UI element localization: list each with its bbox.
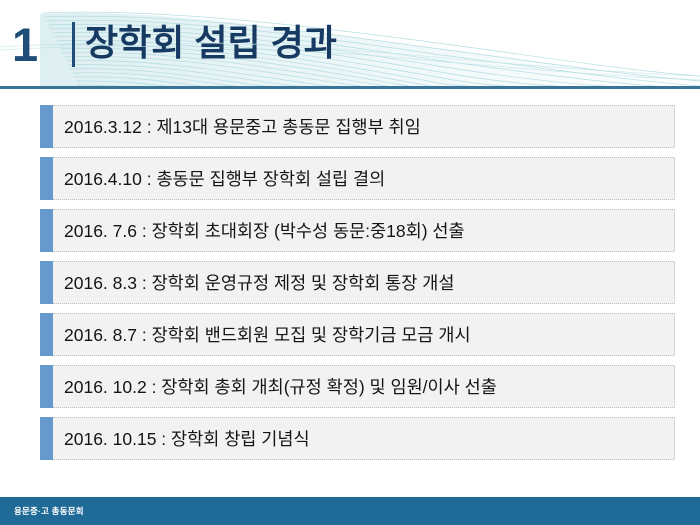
row-text: 2016. 10.2 : 장학회 총회 개최(규정 확정) 및 임원/이사 선출: [53, 377, 497, 397]
row-body: 2016. 7.6 : 장학회 초대회장 (박수성 동문:중18회) 선출: [53, 209, 675, 252]
row-body: 2016. 10.2 : 장학회 총회 개최(규정 확정) 및 임원/이사 선출: [53, 365, 675, 408]
footer-organization-name: 용문중·고 총동문회: [14, 505, 84, 517]
row-accent-bar: [40, 105, 53, 148]
slide-canvas: 1 장학회 설립 경과 2016.3.12 : 제13대 용문중고 총동문 집행…: [0, 0, 700, 525]
list-item: 2016. 8.3 : 장학회 운영규정 제정 및 장학회 통장 개설: [0, 261, 700, 304]
page-title: 장학회 설립 경과: [85, 19, 337, 67]
timeline-list: 2016.3.12 : 제13대 용문중고 총동문 집행부 취임 2016.4.…: [0, 105, 700, 469]
row-body: 2016. 8.3 : 장학회 운영규정 제정 및 장학회 통장 개설: [53, 261, 675, 304]
slide-number: 1: [12, 21, 37, 68]
row-text: 2016. 10.15 : 장학회 창립 기념식: [53, 429, 310, 449]
row-accent-bar: [40, 209, 53, 252]
list-item: 2016. 10.15 : 장학회 창립 기념식: [0, 417, 700, 460]
row-body: 2016. 8.7 : 장학회 밴드회원 모집 및 장학기금 모금 개시: [53, 313, 675, 356]
header-rule: [0, 86, 700, 89]
row-text: 2016.4.10 : 총동문 집행부 장학회 설립 결의: [53, 169, 385, 189]
row-accent-bar: [40, 313, 53, 356]
row-accent-bar: [40, 417, 53, 460]
list-item: 2016. 10.2 : 장학회 총회 개최(규정 확정) 및 임원/이사 선출: [0, 365, 700, 408]
row-text: 2016.3.12 : 제13대 용문중고 총동문 집행부 취임: [53, 117, 421, 137]
list-item: 2016. 8.7 : 장학회 밴드회원 모집 및 장학기금 모금 개시: [0, 313, 700, 356]
slide-footer: 용문중·고 총동문회: [0, 497, 700, 525]
header-divider: [72, 22, 75, 67]
list-item: 2016.3.12 : 제13대 용문중고 총동문 집행부 취임: [0, 105, 700, 148]
row-accent-bar: [40, 261, 53, 304]
slide-header: 1 장학회 설립 경과: [0, 0, 700, 88]
row-text: 2016. 8.3 : 장학회 운영규정 제정 및 장학회 통장 개설: [53, 273, 454, 293]
row-text: 2016. 7.6 : 장학회 초대회장 (박수성 동문:중18회) 선출: [53, 221, 465, 241]
row-body: 2016. 10.15 : 장학회 창립 기념식: [53, 417, 675, 460]
row-accent-bar: [40, 365, 53, 408]
row-body: 2016.3.12 : 제13대 용문중고 총동문 집행부 취임: [53, 105, 675, 148]
row-accent-bar: [40, 157, 53, 200]
row-body: 2016.4.10 : 총동문 집행부 장학회 설립 결의: [53, 157, 675, 200]
list-item: 2016.4.10 : 총동문 집행부 장학회 설립 결의: [0, 157, 700, 200]
list-item: 2016. 7.6 : 장학회 초대회장 (박수성 동문:중18회) 선출: [0, 209, 700, 252]
row-text: 2016. 8.7 : 장학회 밴드회원 모집 및 장학기금 모금 개시: [53, 325, 471, 345]
